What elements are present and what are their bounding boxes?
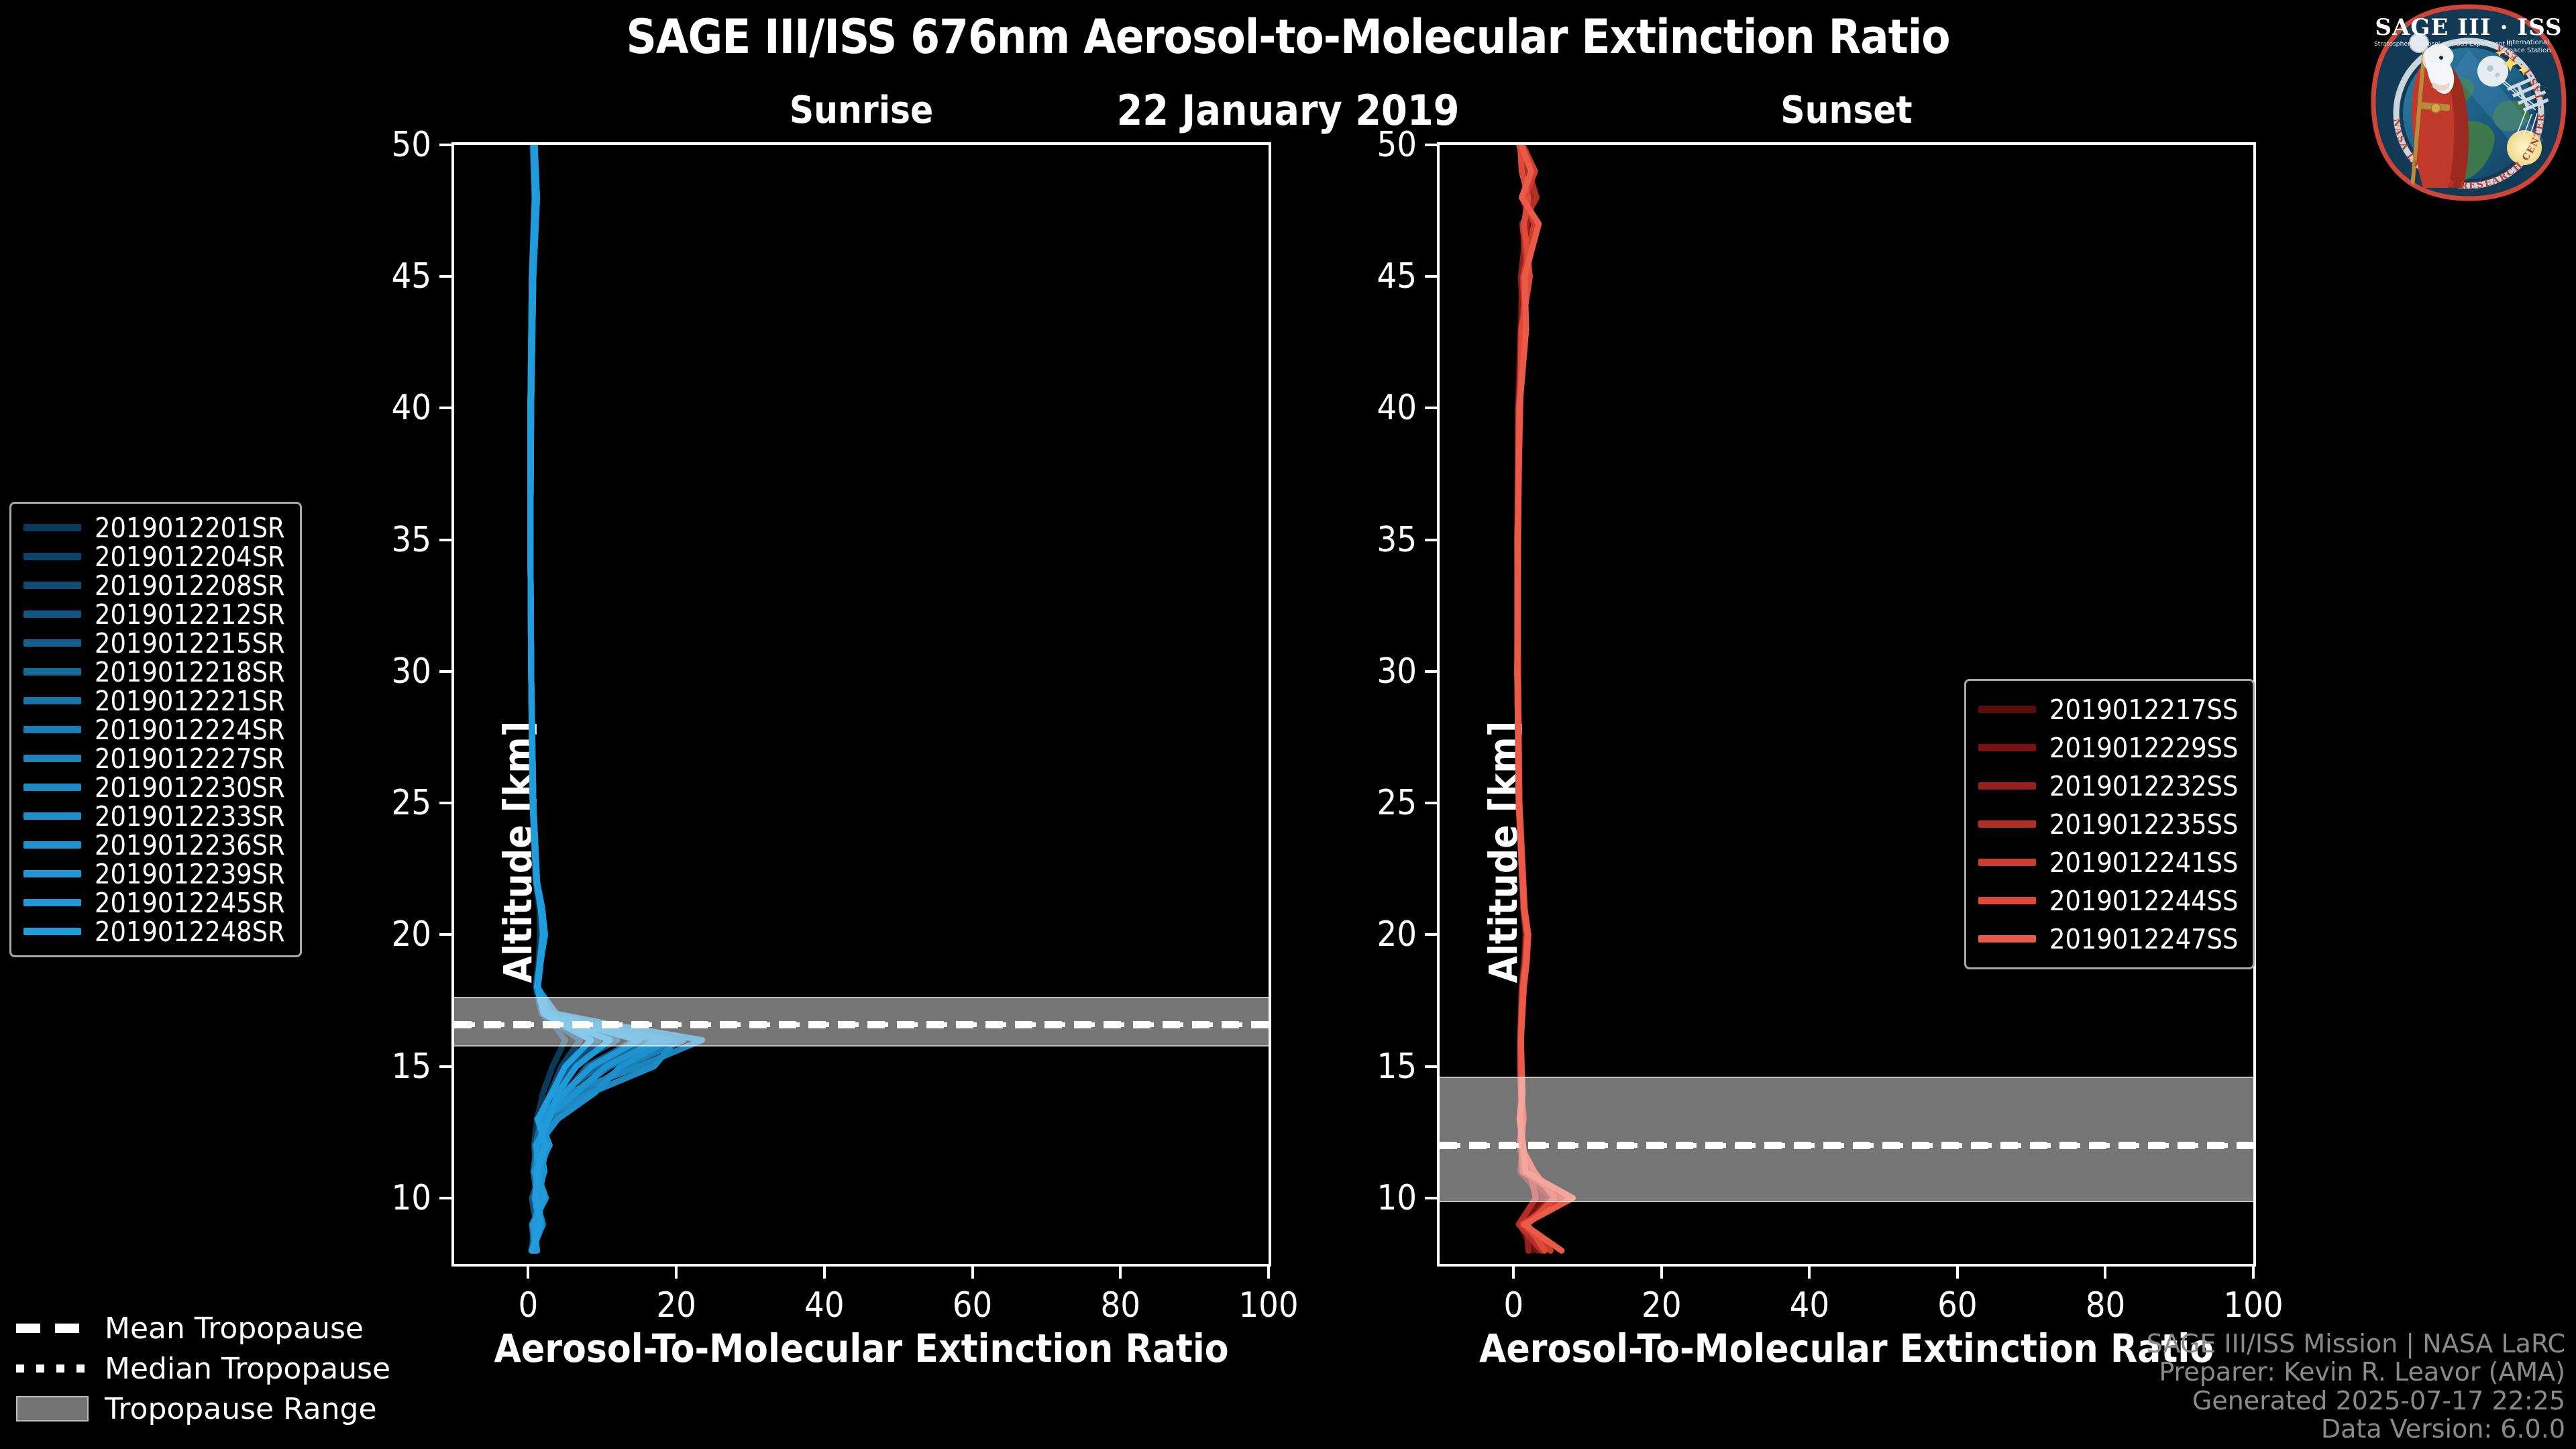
y-tick-label: 35	[391, 520, 431, 560]
x-tick-label: 40	[804, 1285, 845, 1326]
credit-mission: SAGE III/ISS Mission | NASA LaRC	[2147, 1330, 2565, 1358]
credits-block: SAGE III/ISS Mission | NASA LaRC Prepare…	[2147, 1330, 2565, 1444]
legend-label: 2019012232SS	[2049, 770, 2238, 802]
x-tick-label: 80	[2086, 1285, 2126, 1326]
legend-color-swatch	[1978, 935, 2036, 943]
x-tick-label: 0	[518, 1285, 538, 1326]
legend-color-swatch	[1978, 820, 2036, 828]
x-axis-title-sunrise: Aerosol-To-Molecular Extinction Ratio	[451, 1326, 1271, 1371]
legend-color-swatch	[23, 639, 81, 647]
legend-item-mean-tropopause: Mean Tropopause	[16, 1308, 390, 1348]
legend-label-median-tropopause: Median Tropopause	[105, 1352, 390, 1386]
legend-color-swatch	[23, 928, 81, 935]
y-tick-label: 10	[391, 1178, 431, 1218]
x-tick	[971, 1264, 974, 1279]
y-tick-label: 45	[391, 256, 431, 297]
x-tick-label: 60	[953, 1285, 993, 1326]
x-tick	[2104, 1264, 2106, 1279]
legend-item[interactable]: 2019012235SS	[1978, 805, 2238, 843]
legend-label: 2019012218SR	[95, 656, 285, 688]
legend-item[interactable]: 2019012233SR	[23, 802, 285, 830]
y-tick	[1425, 933, 1440, 936]
credit-data-version: Data Version: 6.0.0	[2147, 1415, 2565, 1444]
legend-item[interactable]: 2019012215SR	[23, 629, 285, 657]
y-tick-label: 25	[391, 783, 431, 823]
y-tick-label: 15	[391, 1046, 431, 1087]
filled-band-icon	[16, 1396, 89, 1421]
legend-color-swatch	[23, 755, 81, 762]
panel-title-sunrise: Sunrise	[451, 89, 1271, 132]
y-tick-label: 20	[1377, 914, 1417, 955]
legend-color-swatch	[23, 610, 81, 618]
legend-item[interactable]: 2019012244SS	[1978, 881, 2238, 920]
y-tick	[1425, 1197, 1440, 1199]
y-tick-label: 40	[1377, 388, 1417, 428]
legend-item[interactable]: 2019012218SR	[23, 657, 285, 686]
legend-color-swatch	[1978, 897, 2036, 904]
x-tick-label: 80	[1101, 1285, 1141, 1326]
x-tick-label: 20	[1642, 1285, 1682, 1326]
y-tick-label: 30	[391, 651, 431, 692]
panel-title-sunset: Sunset	[1437, 89, 2256, 132]
legend-color-swatch	[23, 870, 81, 877]
legend-item[interactable]: 2019012239SR	[23, 859, 285, 888]
y-tick	[1425, 539, 1440, 541]
legend-label: 2019012239SR	[95, 858, 285, 890]
legend-color-swatch	[1978, 744, 2036, 751]
y-tick	[439, 407, 454, 409]
legend-label: 2019012244SS	[2049, 885, 2238, 917]
legend-tropopause: Mean Tropopause Median Tropopause Tropop…	[16, 1308, 390, 1429]
y-tick-label: 50	[1377, 125, 1417, 165]
legend-label: 2019012229SS	[2049, 732, 2238, 764]
sage-iii-iss-mission-patch-icon: BALL · NASA LANGLEY RESEARCH CENTER · TA…	[2368, 3, 2569, 204]
x-tick-label: 60	[1937, 1285, 1978, 1326]
legend-item[interactable]: 2019012212SR	[23, 600, 285, 629]
y-tick	[439, 275, 454, 278]
x-tick	[675, 1264, 678, 1279]
legend-item[interactable]: 2019012229SS	[1978, 729, 2238, 767]
legend-color-swatch	[1978, 706, 2036, 713]
y-tick	[439, 670, 454, 673]
patch-subtitle-right-1: International	[2506, 39, 2549, 46]
patch-subtitle-left: Stratospheric Aerosol and Gas Experiment…	[2374, 40, 2512, 48]
legend-label: 2019012245SR	[95, 887, 285, 919]
x-tick	[1119, 1264, 1122, 1279]
legend-item[interactable]: 2019012247SS	[1978, 920, 2238, 958]
y-tick	[1425, 407, 1440, 409]
legend-item[interactable]: 2019012232SS	[1978, 767, 2238, 805]
legend-item[interactable]: 2019012230SR	[23, 773, 285, 802]
y-tick	[1425, 1065, 1440, 1068]
legend-item[interactable]: 2019012241SS	[1978, 843, 2238, 881]
legend-label: 2019012236SR	[95, 829, 285, 861]
legend-label: 2019012235SS	[2049, 808, 2238, 841]
plot-area-sunrise	[454, 145, 1269, 1264]
y-tick-label: 10	[1377, 1178, 1417, 1218]
legend-color-swatch	[23, 553, 81, 560]
y-tick	[439, 539, 454, 541]
legend-label: 2019012241SS	[2049, 847, 2238, 879]
y-tick-label: 35	[1377, 520, 1417, 560]
legend-label: 2019012230SR	[95, 771, 285, 804]
credit-preparer: Preparer: Kevin R. Leavor (AMA)	[2147, 1358, 2565, 1387]
legend-item-median-tropopause: Median Tropopause	[16, 1348, 390, 1389]
y-tick-label: 45	[1377, 256, 1417, 297]
legend-color-swatch	[23, 697, 81, 704]
y-tick-label: 30	[1377, 651, 1417, 692]
legend-label: 2019012215SR	[95, 627, 285, 659]
legend-label: 2019012227SR	[95, 743, 285, 775]
credit-generated: Generated 2025-07-17 22:25	[2147, 1387, 2565, 1415]
x-tick	[1660, 1264, 1663, 1279]
median-tropopause-line-sunrise	[454, 1022, 1269, 1027]
x-tick	[823, 1264, 826, 1279]
x-axis-title-sunset: Aerosol-To-Molecular Extinction Ratio	[1437, 1326, 2256, 1371]
legend-label: 2019012221SR	[95, 685, 285, 717]
legend-label-tropopause-range: Tropopause Range	[105, 1392, 377, 1426]
legend-color-swatch	[1978, 782, 2036, 790]
x-tick	[1808, 1264, 1811, 1279]
y-tick-label: 40	[391, 388, 431, 428]
dashed-line-icon	[16, 1324, 89, 1333]
x-tick	[527, 1264, 529, 1279]
legend-color-swatch	[23, 841, 81, 849]
legend-item[interactable]: 2019012201SR	[23, 513, 285, 542]
patch-subtitle-right-2: Space Station	[2504, 47, 2551, 54]
y-tick-label: 25	[1377, 783, 1417, 823]
legend-label: 2019012233SR	[95, 800, 285, 833]
x-tick	[1267, 1264, 1270, 1279]
legend-item[interactable]: 2019012208SR	[23, 571, 285, 600]
legend-color-swatch	[23, 726, 81, 733]
plot-axes-sunrise: Altitude [km] 101520253035404550 0204060…	[451, 142, 1271, 1267]
y-tick-label: 15	[1377, 1046, 1417, 1087]
x-tick-label: 100	[1238, 1285, 1298, 1326]
legend-color-swatch	[23, 524, 81, 531]
legend-color-swatch	[23, 668, 81, 676]
patch-title: SAGE III · ISS	[2375, 14, 2562, 41]
y-tick	[439, 144, 454, 146]
legend-color-swatch	[1978, 859, 2036, 866]
legend-label: 2019012204SR	[95, 541, 285, 573]
legend-label: 2019012201SR	[95, 512, 285, 544]
x-tick-label: 100	[2223, 1285, 2283, 1326]
y-tick-label: 20	[391, 914, 431, 955]
y-tick	[1425, 802, 1440, 804]
legend-item[interactable]: 2019012248SR	[23, 917, 285, 946]
legend-label: 2019012247SS	[2049, 923, 2238, 955]
x-tick-label: 20	[656, 1285, 696, 1326]
legend-sunrise[interactable]: 2019012201SR2019012204SR2019012208SR2019…	[9, 502, 302, 957]
series-lines-sunrise	[454, 145, 1269, 1264]
y-tick	[1425, 275, 1440, 278]
y-tick	[1425, 670, 1440, 673]
legend-label: 2019012217SS	[2049, 694, 2238, 726]
y-tick	[439, 933, 454, 936]
legend-label: 2019012224SR	[95, 714, 285, 746]
legend-color-swatch	[23, 812, 81, 820]
legend-item[interactable]: 2019012217SS	[1978, 690, 2238, 729]
legend-color-swatch	[23, 899, 81, 906]
tropopause-range-band-sunset	[1440, 1077, 2253, 1201]
x-tick	[2252, 1264, 2255, 1279]
y-tick-label: 50	[391, 125, 431, 165]
x-tick	[1512, 1264, 1515, 1279]
legend-label: 2019012208SR	[95, 570, 285, 602]
x-tick-label: 40	[1790, 1285, 1830, 1326]
legend-item[interactable]: 2019012204SR	[23, 542, 285, 571]
x-tick-label: 0	[1503, 1285, 1523, 1326]
x-tick	[1956, 1264, 1959, 1279]
legend-label-mean-tropopause: Mean Tropopause	[105, 1311, 364, 1346]
legend-item[interactable]: 2019012221SR	[23, 686, 285, 715]
page-title: SAGE III/ISS 676nm Aerosol-to-Molecular …	[0, 9, 2576, 64]
legend-label: 2019012212SR	[95, 598, 285, 631]
legend-item[interactable]: 2019012224SR	[23, 715, 285, 744]
legend-color-swatch	[23, 784, 81, 791]
y-tick	[1425, 144, 1440, 146]
y-tick	[439, 802, 454, 804]
median-tropopause-line-sunset	[1440, 1143, 2253, 1148]
legend-item[interactable]: 2019012227SR	[23, 744, 285, 773]
figure-canvas: SAGE III/ISS 676nm Aerosol-to-Molecular …	[0, 0, 2576, 1449]
y-tick	[439, 1065, 454, 1068]
legend-color-swatch	[23, 582, 81, 589]
dotted-line-icon	[16, 1364, 89, 1373]
legend-item-tropopause-range: Tropopause Range	[16, 1389, 390, 1429]
y-tick	[439, 1197, 454, 1199]
legend-item[interactable]: 2019012245SR	[23, 888, 285, 917]
legend-item[interactable]: 2019012236SR	[23, 830, 285, 859]
legend-sunset[interactable]: 2019012217SS2019012229SS2019012232SS2019…	[1964, 679, 2255, 969]
legend-label: 2019012248SR	[95, 916, 285, 948]
